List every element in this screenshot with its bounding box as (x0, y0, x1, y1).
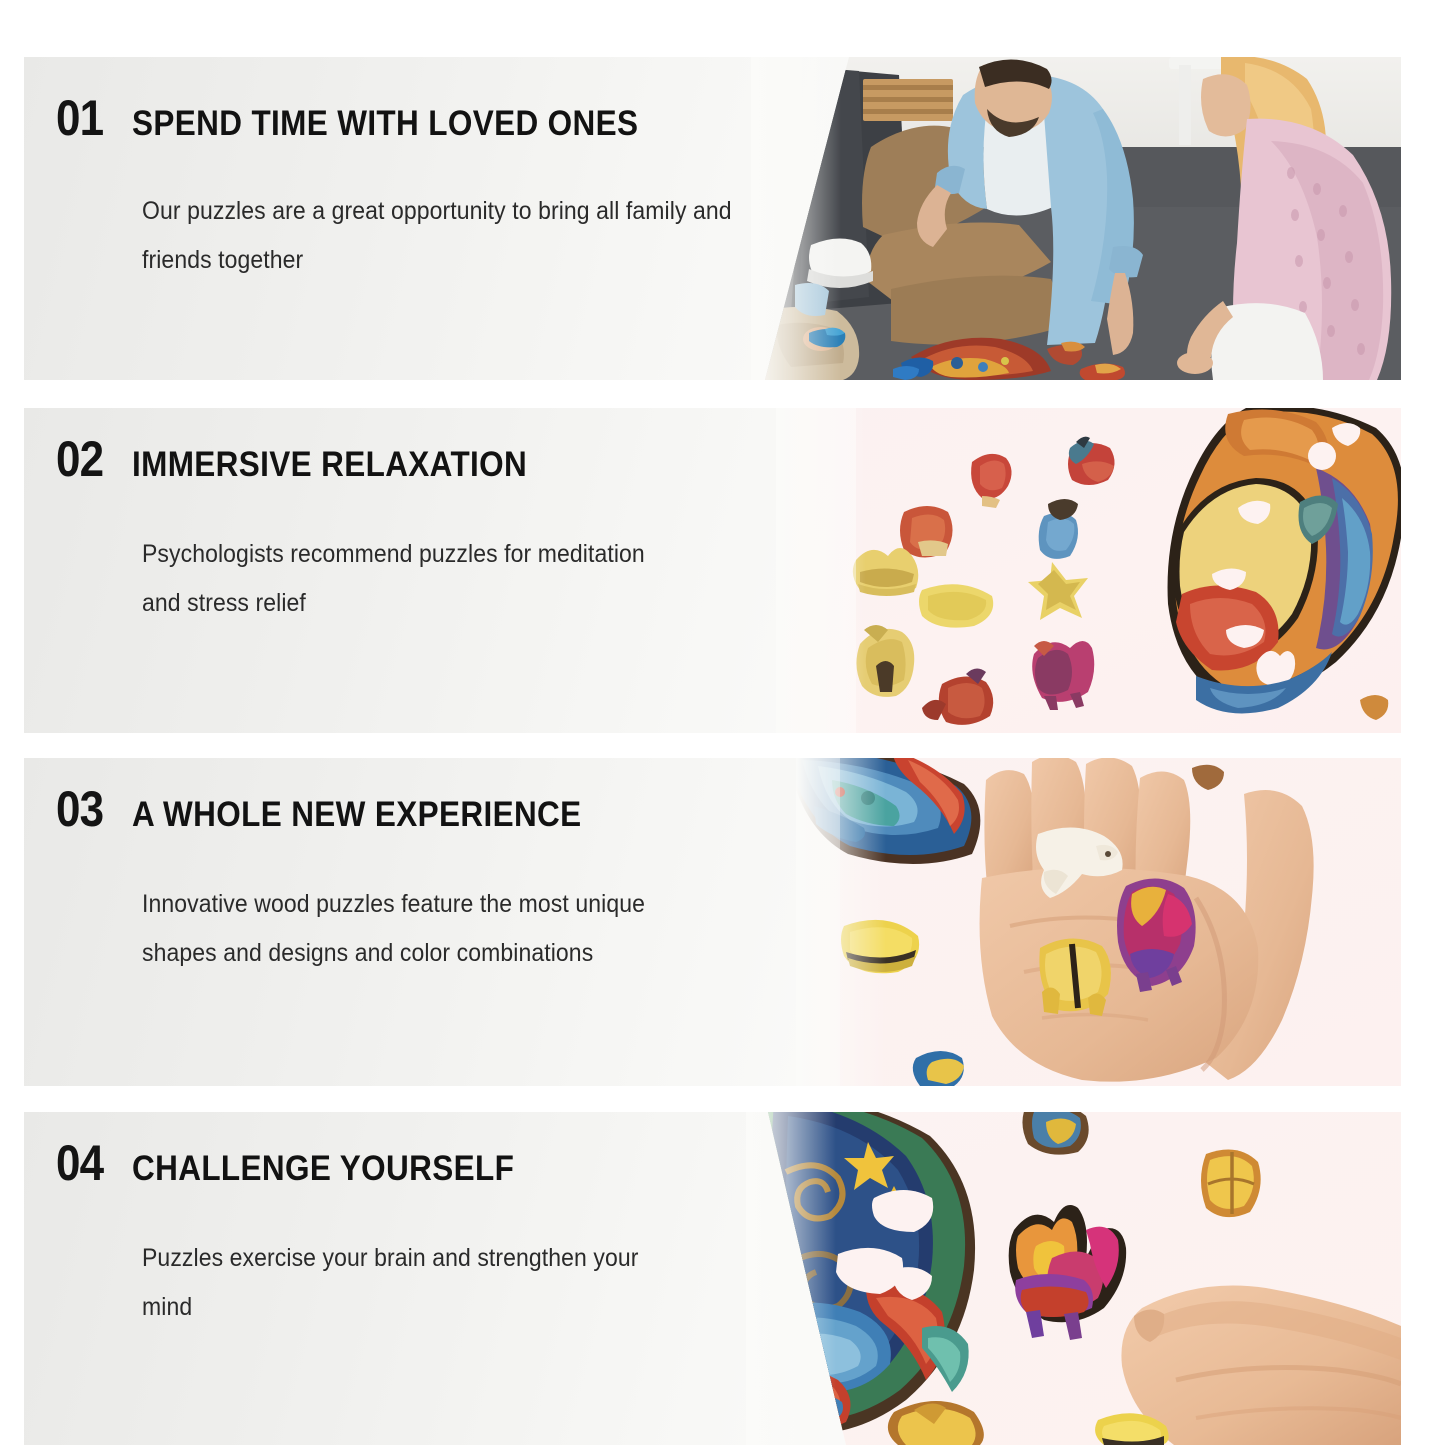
feature-body-02: Psychologists recommend puzzles for medi… (142, 530, 657, 628)
feature-image-03 (796, 758, 1401, 1086)
feature-number-03: 03 (56, 780, 103, 838)
feature-list-page: 01 SPEND TIME WITH LOVED ONES Our puzzle… (0, 0, 1445, 1445)
feature-image-02 (776, 408, 1401, 733)
feature-title-01: SPEND TIME WITH LOVED ONES (132, 104, 638, 144)
feature-body-03: Innovative wood puzzles feature the most… (142, 880, 676, 978)
feature-card-03: 03 A WHOLE NEW EXPERIENCE Innovative woo… (24, 758, 1401, 1086)
feature-heading-04: 04 CHALLENGE YOURSELF (56, 1134, 742, 1192)
feature-text-03: 03 A WHOLE NEW EXPERIENCE Innovative woo… (56, 780, 722, 978)
feature-card-02: 02 IMMERSIVE RELAXATION Psychologists re… (24, 408, 1401, 733)
feature-card-01: 01 SPEND TIME WITH LOVED ONES Our puzzle… (24, 57, 1401, 380)
feature-text-02: 02 IMMERSIVE RELAXATION Psychologists re… (56, 430, 702, 628)
feature-image-01 (751, 57, 1401, 380)
feature-title-03: A WHOLE NEW EXPERIENCE (132, 795, 582, 835)
feature-number-01: 01 (56, 89, 103, 147)
feature-text-01: 01 SPEND TIME WITH LOVED ONES Our puzzle… (56, 89, 802, 285)
feature-heading-03: 03 A WHOLE NEW EXPERIENCE (56, 780, 722, 838)
feature-title-04: CHALLENGE YOURSELF (132, 1149, 514, 1189)
feature-heading-01: 01 SPEND TIME WITH LOVED ONES (56, 89, 802, 147)
feature-title-02: IMMERSIVE RELAXATION (132, 445, 527, 485)
feature-text-04: 04 CHALLENGE YOURSELF Puzzles exercise y… (56, 1134, 742, 1332)
feature-card-04: 04 CHALLENGE YOURSELF Puzzles exercise y… (24, 1112, 1401, 1445)
feature-number-04: 04 (56, 1134, 103, 1192)
feature-image-04 (746, 1112, 1401, 1445)
feature-heading-02: 02 IMMERSIVE RELAXATION (56, 430, 702, 488)
feature-body-01: Our puzzles are a great opportunity to b… (142, 187, 749, 285)
feature-number-02: 02 (56, 430, 103, 488)
feature-body-04: Puzzles exercise your brain and strength… (142, 1234, 694, 1332)
